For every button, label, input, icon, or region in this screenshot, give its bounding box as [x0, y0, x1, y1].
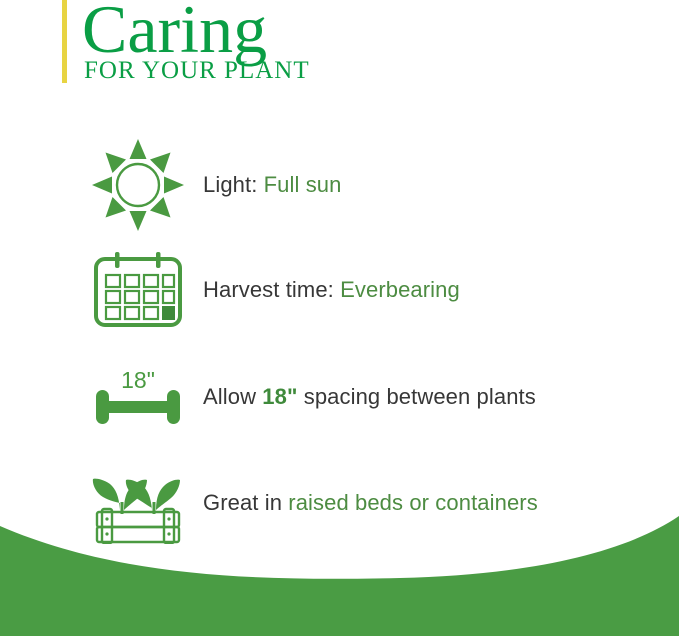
- page-subtitle: FOR YOUR PLANT: [84, 58, 604, 84]
- bed-value: raised beds or containers: [288, 490, 538, 516]
- care-row-harvest: Harvest time: Everbearing: [0, 235, 679, 345]
- calendar-icon: [90, 250, 186, 330]
- footer-wave-decoration: [0, 516, 679, 636]
- calendar-icon-wrapper: [85, 235, 190, 345]
- calendar-highlighted-day: [162, 306, 175, 320]
- spacing-icon-wrapper: 18": [85, 342, 190, 452]
- spacing-value: 18": [262, 384, 297, 410]
- header: Caring FOR YOUR PLANT: [0, 0, 679, 110]
- light-value: Full sun: [264, 172, 342, 198]
- light-label: Light:: [203, 172, 257, 198]
- yellow-accent-bar: [62, 0, 67, 83]
- harvest-value: Everbearing: [340, 277, 460, 303]
- spacing-icon-label: 18": [121, 367, 155, 393]
- sun-icon-wrapper: [85, 130, 190, 240]
- care-row-spacing-text: Allow 18" spacing between plants: [203, 342, 536, 452]
- care-row-harvest-text: Harvest time: Everbearing: [203, 235, 460, 345]
- harvest-label: Harvest time:: [203, 277, 334, 303]
- title-block: Caring FOR YOUR PLANT: [82, 0, 602, 92]
- spacing-suffix: spacing between plants: [304, 384, 536, 410]
- care-row-light: Light: Full sun: [0, 130, 679, 240]
- care-row-spacing: 18" Allow 18" spacing between plants: [0, 342, 679, 452]
- care-row-light-text: Light: Full sun: [203, 130, 341, 240]
- spacing-icon: 18": [88, 362, 188, 432]
- spacing-label: Allow: [203, 384, 256, 410]
- bed-label: Great in: [203, 490, 282, 516]
- sun-icon: [90, 137, 186, 233]
